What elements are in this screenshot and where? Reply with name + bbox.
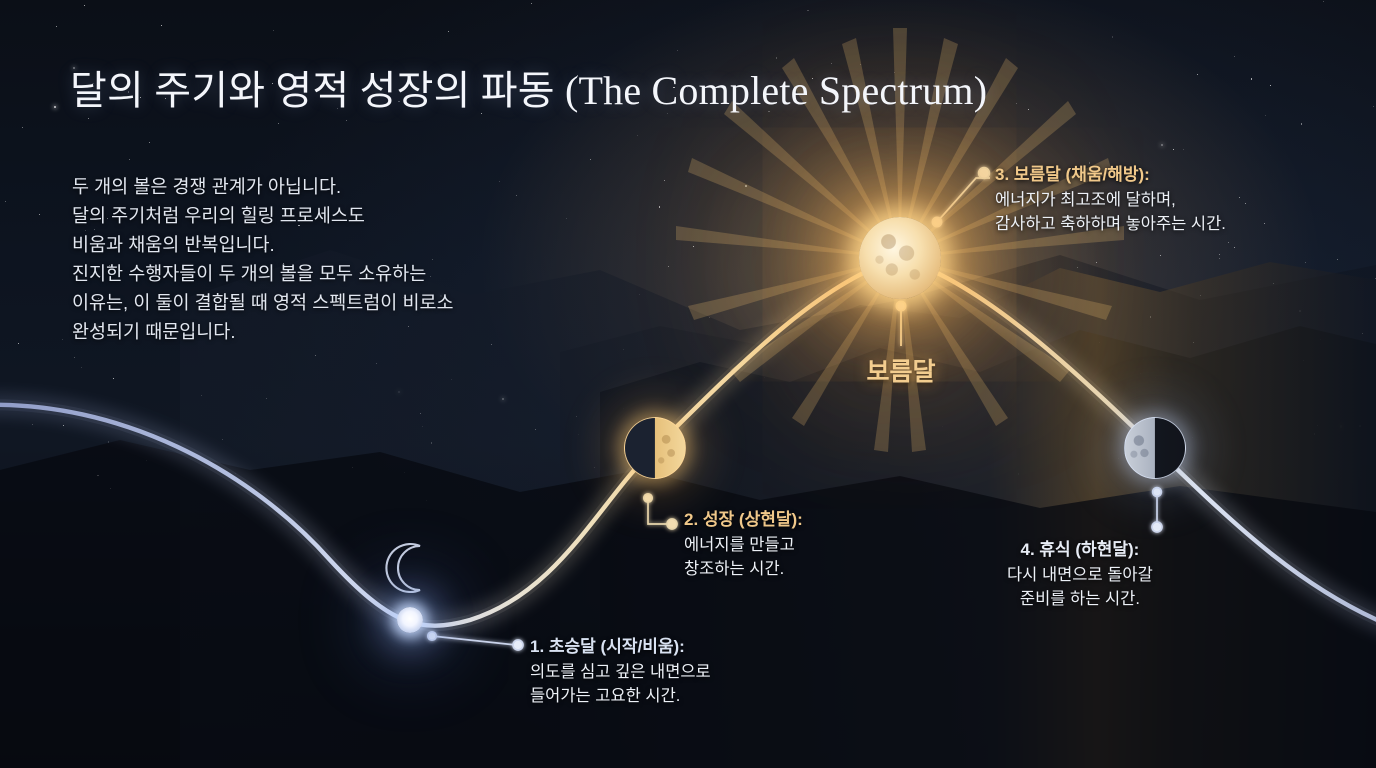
star [266,398,267,399]
star [1028,109,1029,110]
star [1068,377,1069,378]
star [499,181,500,182]
star [691,459,692,460]
first-quarter-moon-icon [624,417,686,479]
star [639,294,640,295]
intro-line: 진지한 수행자들이 두 개의 볼을 모두 소유하는 [72,259,454,288]
star [693,246,694,247]
star [84,5,85,6]
star [1245,203,1246,204]
star [1140,373,1141,374]
star [491,344,492,345]
star [1320,339,1321,340]
callout-new-moon: 1. 초승달 (시작/비움): 의도를 심고 깊은 내면으로 들어가는 고요한 … [530,632,711,708]
star [770,468,771,469]
star [420,413,421,414]
intro-line: 완성되기 때문입니다. [72,317,454,346]
infographic-canvas: 달의 주기와 영적 성장의 파동 (The Complete Spectrum)… [0,0,1376,768]
star [273,30,274,31]
star [709,317,710,318]
callout-heading: 1. 초승달 (시작/비움): [530,632,711,657]
star [32,424,33,425]
page-title: 달의 주기와 영적 성장의 파동 (The Complete Spectrum) [70,58,987,116]
star [1234,247,1235,248]
star [932,498,933,499]
star [422,426,423,427]
star [97,475,99,477]
star [1337,259,1338,260]
star [531,3,532,4]
star [18,343,19,344]
star [431,442,433,444]
star [1270,85,1271,86]
star [398,391,400,393]
star [81,367,82,368]
star [448,31,449,32]
star [1219,254,1220,255]
star [146,460,147,461]
star [1143,359,1144,360]
star [664,180,665,181]
callout-line: 창조하는 시간. [684,557,803,581]
star [516,195,517,196]
callout-line: 에너지를 만들고 [684,533,803,557]
star [1200,295,1201,296]
callout-line: 준비를 하는 시간. [1007,587,1153,611]
star [1301,123,1303,125]
star [278,123,279,124]
callout-line: 의도를 심고 깊은 내면으로 [530,660,711,684]
star [1016,103,1017,104]
star [404,472,405,473]
intro-line: 달의 주기처럼 우리의 힐링 프로세스도 [72,201,454,230]
star [1096,262,1097,263]
callout-full-moon: 3. 보름달 (채움/해방): 에너지가 최고조에 달하며, 감사하고 축하하며… [995,160,1226,236]
star [535,429,536,430]
star [63,425,65,427]
callout-line: 들어가는 고요한 시간. [530,684,711,708]
star [576,416,577,417]
star [88,118,89,119]
star [113,378,114,379]
full-moon-icon [859,217,941,299]
star [62,339,63,340]
star [1303,360,1305,362]
star [668,266,669,267]
star [39,214,41,216]
star [623,408,624,409]
star [352,467,354,469]
star [1239,197,1240,198]
star [764,377,765,378]
star [590,159,591,160]
star [872,485,873,486]
star [745,185,747,187]
star [1160,255,1161,256]
star [777,438,778,439]
star [659,206,661,208]
star [1299,310,1301,312]
star [1193,342,1194,343]
callout-line: 에너지가 최고조에 달하며, [995,188,1226,212]
intro-line: 비움과 채움의 반복입니다. [72,230,454,259]
star [1305,262,1306,263]
star [346,120,347,121]
star [1077,267,1078,268]
star [235,473,236,474]
star [1099,342,1100,343]
star [1314,433,1316,435]
star [1192,437,1193,438]
star [1064,339,1066,341]
star [1197,74,1198,75]
star [222,439,223,440]
star [110,488,111,489]
star [1359,425,1361,427]
star [54,106,56,108]
callout-heading: 3. 보름달 (채움/해방): [995,160,1226,185]
star [1161,144,1163,146]
star [1112,36,1114,38]
star [1373,106,1374,107]
star [566,218,567,219]
star [315,355,316,356]
callout-heading: 2. 성장 (상현달): [684,505,803,530]
intro-line: 이유는, 이 둘이 결합될 때 영적 스펙트럼이 비로소 [72,288,454,317]
star [153,435,154,436]
star [594,467,595,468]
callout-last-quarter: 4. 휴식 (하현달): 다시 내면으로 돌아갈 준비를 하는 시간. [1007,535,1153,611]
star [5,201,6,202]
star [376,363,378,365]
star [451,379,452,380]
star [1018,473,1020,475]
star [1340,425,1342,427]
star [1362,333,1363,334]
star [1150,316,1152,318]
star [161,25,163,27]
last-quarter-moon-icon [1124,417,1186,479]
star [637,135,638,136]
star [426,500,427,501]
star [1228,242,1229,243]
star [502,398,504,400]
star [1251,78,1253,80]
star [578,434,579,435]
star [22,127,23,128]
star [807,10,809,12]
star [677,50,679,52]
callout-heading: 4. 휴식 (하현달): [1007,535,1153,560]
intro-paragraph: 두 개의 볼은 경쟁 관계가 아닙니다. 달의 주기처럼 우리의 힐링 프로세스… [72,172,454,346]
crescent-moon-icon [382,540,438,596]
star [1118,458,1119,459]
star [201,395,203,397]
star [1183,149,1184,150]
star [129,159,130,160]
star [74,357,75,358]
callout-first-quarter: 2. 성장 (상현달): 에너지를 만들고 창조하는 시간. [684,505,803,581]
star [1173,149,1174,150]
star [108,441,110,443]
full-moon-label: 보름달 [860,352,942,388]
star [699,465,700,466]
star [56,26,57,27]
star [1219,258,1220,259]
star [1155,377,1156,378]
star [942,426,943,427]
star [149,142,150,143]
callout-line: 다시 내면으로 돌아갈 [1007,563,1153,587]
star [623,349,624,350]
intro-line: 두 개의 볼은 경쟁 관계가 아닙니다. [72,172,454,201]
star [1265,115,1266,116]
star [1234,56,1235,57]
star [1273,283,1274,284]
star [1323,1,1325,3]
star [1317,425,1318,426]
star [1264,223,1265,224]
callout-line: 감사하고 축하하며 놓아주는 시간. [995,212,1226,236]
new-moon-icon [397,607,423,633]
